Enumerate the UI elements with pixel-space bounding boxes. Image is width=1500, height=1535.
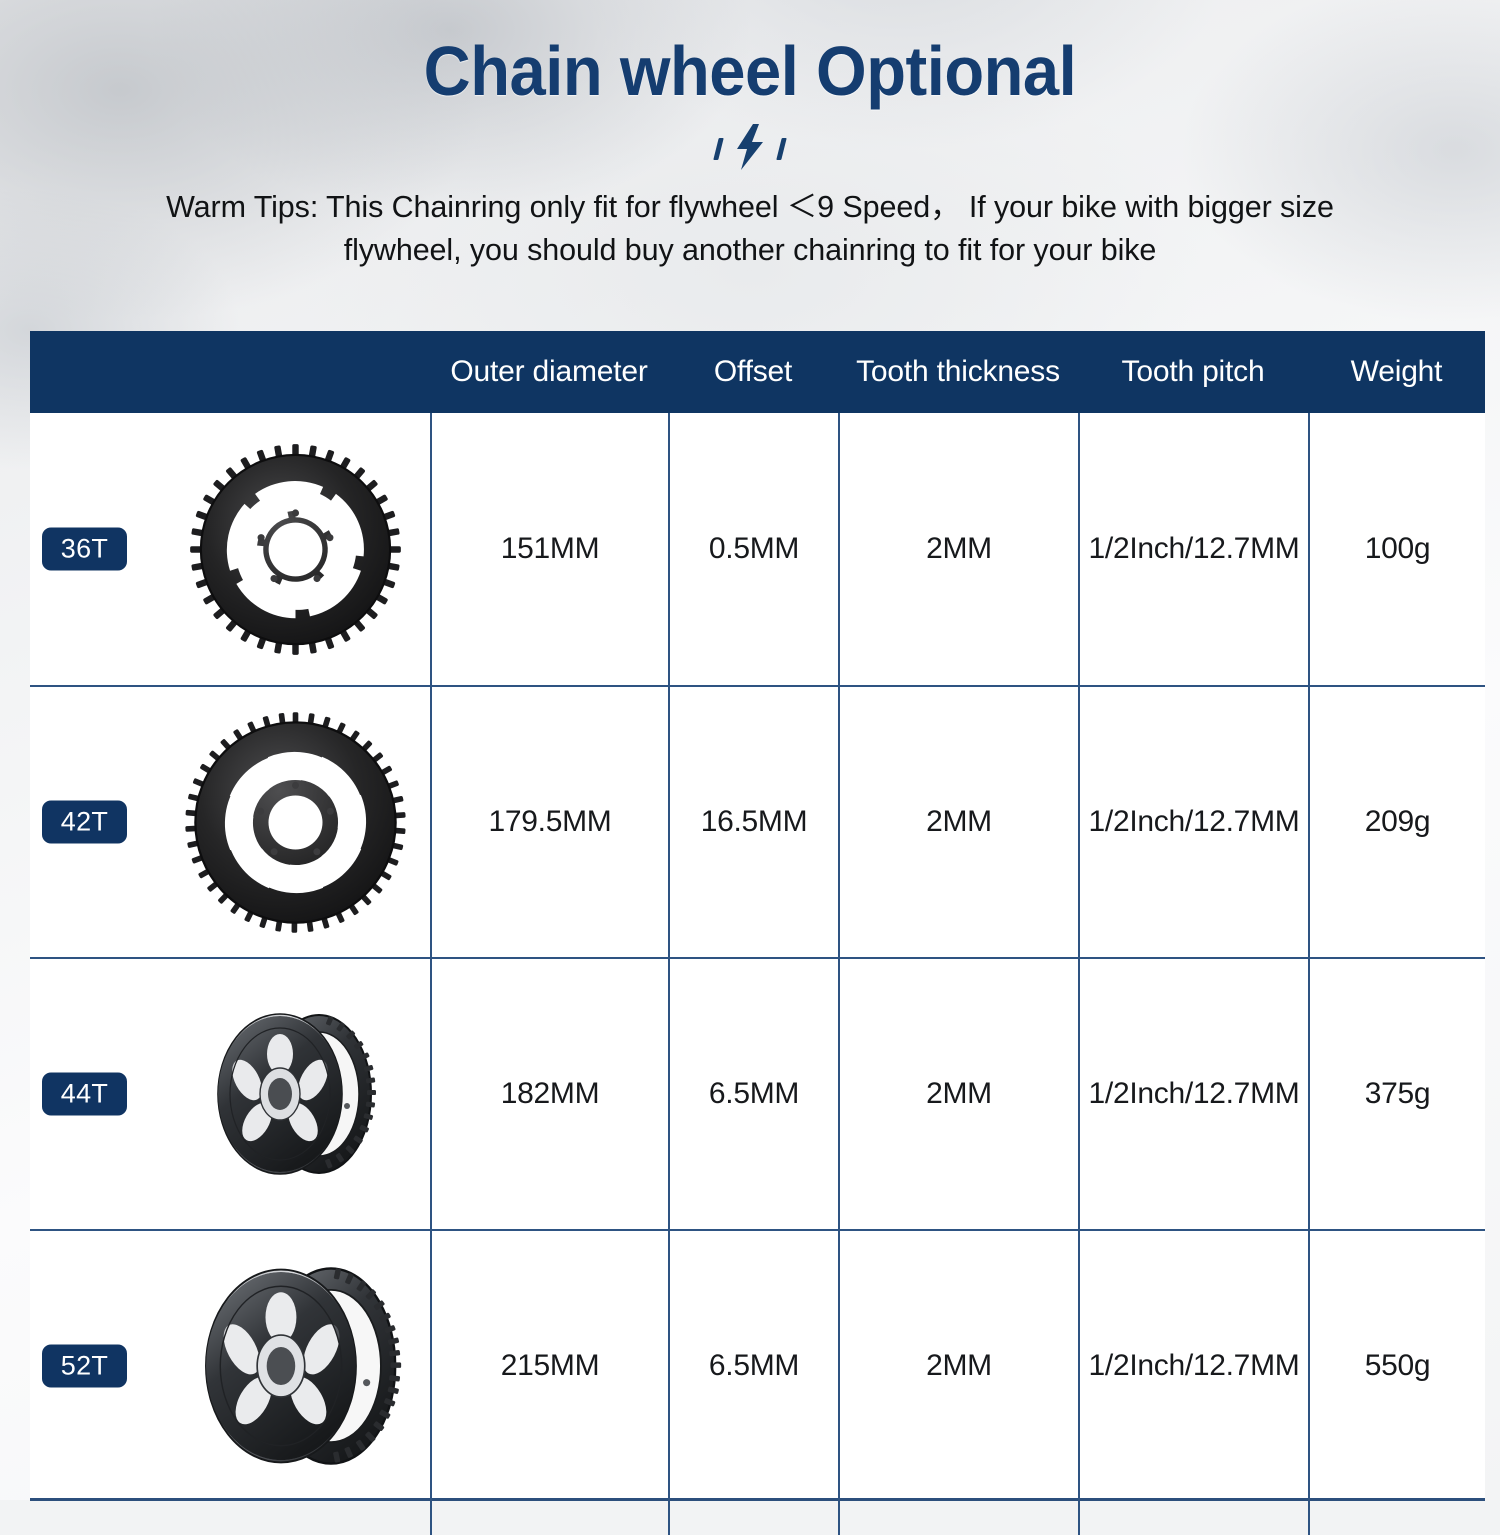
cell-tooth-pitch: 1/2Inch/12.7MM (1078, 959, 1308, 1229)
table-row: 36T (30, 413, 1485, 685)
cell-tooth-thickness: 2MM (838, 687, 1078, 957)
table-row: 44T (30, 957, 1485, 1229)
chainring-52t-with-guard-image (180, 1246, 420, 1486)
cell-tooth-thickness: 2MM (838, 413, 1078, 685)
overflow-seg-tooth-thickness (838, 1501, 1078, 1535)
cell-weight: 550g (1308, 1231, 1485, 1501)
cell-offset: 16.5MM (668, 687, 838, 957)
warm-tips-line-2: flywheel, you should buy another chainri… (85, 229, 1415, 272)
table-row: 52T (30, 1229, 1485, 1501)
size-badge: 44T (42, 1073, 127, 1116)
cell-weight: 375g (1308, 959, 1485, 1229)
chainring-36t-image (180, 434, 410, 664)
cell-outer-diameter: 182MM (430, 959, 668, 1229)
cell-tooth-thickness: 2MM (838, 959, 1078, 1229)
chainring-44t-with-guard-image (180, 979, 410, 1209)
cell-outer-diameter: 215MM (430, 1231, 668, 1501)
header-offset: Offset (668, 355, 838, 389)
overflow-seg-tooth-pitch (1078, 1501, 1308, 1535)
header-weight: Weight (1308, 355, 1485, 389)
overflow-seg-outer-diameter (430, 1501, 668, 1535)
header-tooth-pitch: Tooth pitch (1078, 355, 1308, 389)
product-spec-page: Chain wheel Optional Warm Tips: This Cha… (0, 0, 1500, 1500)
product-cell: 44T (30, 959, 430, 1229)
lightning-bolt-icon (733, 124, 767, 175)
overflow-seg-weight (1308, 1501, 1485, 1535)
cell-outer-diameter: 179.5MM (430, 687, 668, 957)
table-body: 36T (30, 413, 1485, 1501)
overflow-seg-offset (668, 1501, 838, 1535)
warm-tips: Warm Tips: This Chainring only fit for f… (85, 186, 1415, 273)
cell-tooth-pitch: 1/2Inch/12.7MM (1078, 413, 1308, 685)
chainring-42t-image (180, 707, 410, 937)
cell-offset: 6.5MM (668, 959, 838, 1229)
product-cell: 36T (30, 413, 430, 685)
cell-tooth-thickness: 2MM (838, 1231, 1078, 1501)
size-badge: 36T (42, 528, 127, 571)
header-outer-diameter: Outer diameter (430, 355, 668, 389)
cell-weight: 209g (1308, 687, 1485, 957)
cell-weight: 100g (1308, 413, 1485, 685)
tick-right-icon (776, 138, 786, 160)
cell-tooth-pitch: 1/2Inch/12.7MM (1078, 1231, 1308, 1501)
tick-left-icon (713, 138, 723, 160)
cell-offset: 6.5MM (668, 1231, 838, 1501)
bolt-divider (0, 126, 1500, 172)
warm-tips-line-1: Warm Tips: This Chainring only fit for f… (85, 186, 1415, 229)
overflow-seg-product (30, 1501, 430, 1535)
product-cell: 52T (30, 1231, 430, 1501)
page-title: Chain wheel Optional (53, 0, 1448, 106)
product-cell: 42T (30, 687, 430, 957)
cell-outer-diameter: 151MM (430, 413, 668, 685)
size-badge: 52T (42, 1345, 127, 1388)
table-overflow-row (30, 1501, 1485, 1535)
size-badge: 42T (42, 801, 127, 844)
table-row: 42T (30, 685, 1485, 957)
header-tooth-thickness: Tooth thickness (838, 355, 1078, 389)
cell-tooth-pitch: 1/2Inch/12.7MM (1078, 687, 1308, 957)
spec-table: Outer diameter Offset Tooth thickness To… (30, 331, 1485, 1501)
table-header-row: Outer diameter Offset Tooth thickness To… (30, 331, 1485, 413)
cell-offset: 0.5MM (668, 413, 838, 685)
